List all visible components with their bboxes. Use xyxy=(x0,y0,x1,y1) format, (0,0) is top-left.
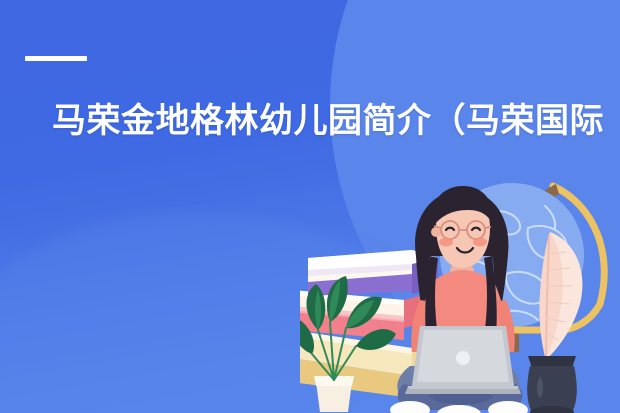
article-cover-card: 马荣金地格林幼儿园简介（马荣国际 xyxy=(0,0,620,413)
page-title: 马荣金地格林幼儿园简介（马荣国际 xyxy=(52,99,620,143)
laptop-icon xyxy=(405,326,521,394)
inkpot-icon xyxy=(527,356,577,413)
illustration-girl-studying-with-laptop xyxy=(300,170,620,413)
decorative-underline xyxy=(25,56,87,61)
